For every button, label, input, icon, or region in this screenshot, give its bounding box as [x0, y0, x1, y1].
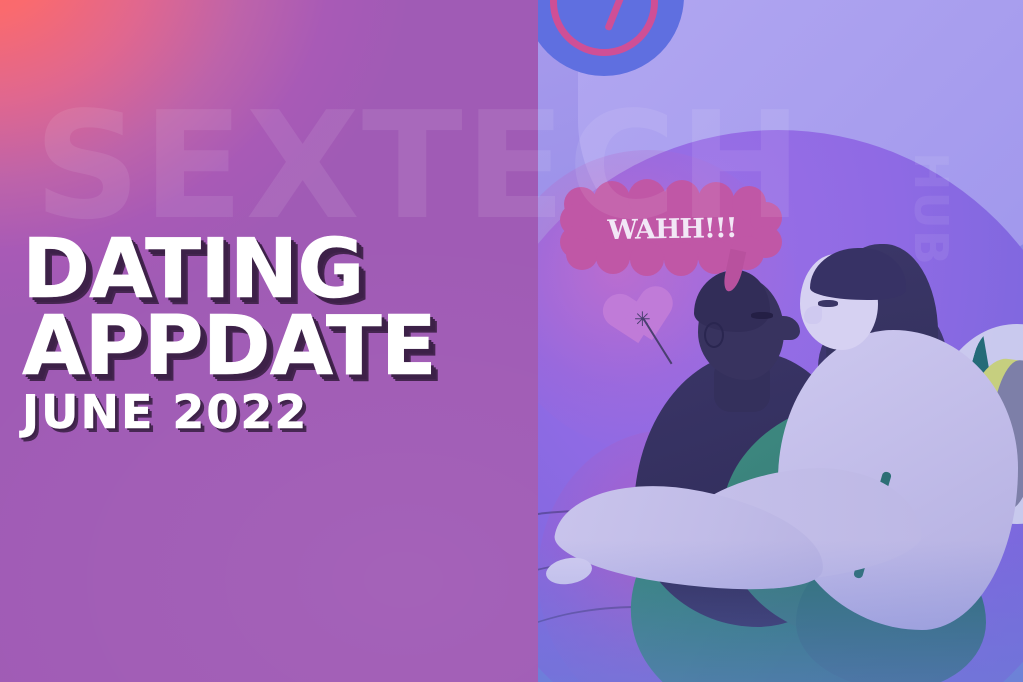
man-ear: [704, 322, 724, 348]
headline-line-dating: DATING: [22, 232, 538, 307]
heart-icon: [614, 284, 688, 358]
headline-line-date: JUNE 2022: [22, 391, 538, 433]
bubble-puff: [594, 181, 630, 217]
woman-nose: [804, 306, 822, 324]
right-panel-illustration: WAHH!!! ✳: [538, 0, 1023, 682]
dating-appdate-banner: DATING APPDATE JUNE 2022: [0, 0, 1023, 682]
bottom-color-wash: [538, 540, 1023, 682]
bubble-puff: [664, 242, 698, 276]
headline-block: DATING APPDATE JUNE 2022: [22, 232, 538, 433]
man-eye: [751, 312, 773, 319]
sparkle-icon: ✳: [634, 310, 651, 330]
left-panel: DATING APPDATE JUNE 2022: [0, 0, 538, 682]
bubble-puff: [628, 179, 666, 217]
bubble-puff: [664, 180, 700, 216]
speech-bubble-text: WAHH!!!: [574, 212, 771, 246]
headline-line-appdate: APPDATE: [22, 309, 538, 384]
bubble-puff: [630, 242, 664, 276]
woman-eye: [818, 300, 838, 307]
